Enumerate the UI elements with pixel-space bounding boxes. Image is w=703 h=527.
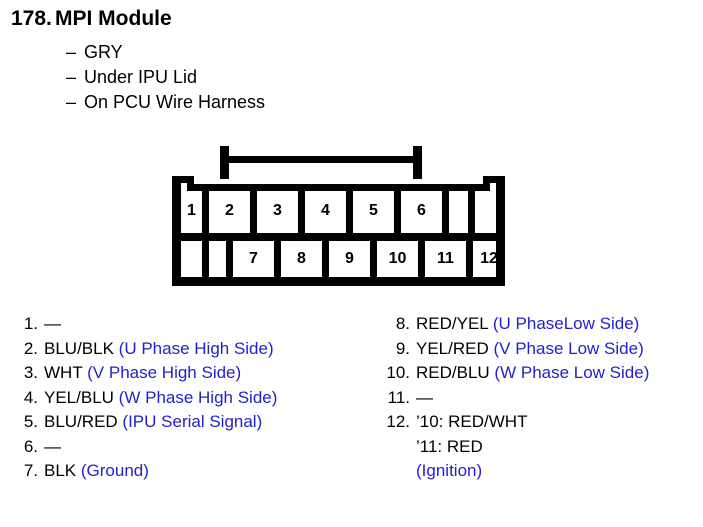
- pin-number-4: 4: [305, 203, 346, 219]
- section-title: MPI Module: [55, 7, 172, 31]
- pin-empty-dash: —: [416, 388, 433, 407]
- pin-entry-5: 5.BLU/RED (IPU Serial Signal): [18, 410, 378, 435]
- cell-divider-top: [442, 187, 449, 237]
- pin-index: 9.: [382, 337, 410, 362]
- pin-description: (U PhaseLow Side): [493, 314, 639, 333]
- pin-index: 3.: [18, 361, 38, 386]
- pin-entry-9: 9.YEL/RED (V Phase Low Side): [382, 337, 700, 362]
- pin-entry-12: 12.’10: RED/WHT ’11: RED (Ignition): [382, 410, 700, 484]
- cell-divider-bottom: [226, 236, 233, 284]
- cell-divider-bottom: [274, 236, 281, 284]
- wire-color: YEL/BLU: [44, 388, 114, 407]
- wire-color: RED/YEL: [416, 314, 488, 333]
- pin-description: (W Phase Low Side): [494, 363, 649, 382]
- pin-index: 4.: [18, 386, 38, 411]
- attribute-list: –GRY –Under IPU Lid –On PCU Wire Harness: [66, 40, 265, 115]
- pin-number-12: 12: [473, 251, 505, 267]
- list-item-label: On PCU Wire Harness: [84, 92, 265, 112]
- cell-divider-bottom: [202, 236, 209, 284]
- pin-description: (V Phase Low Side): [493, 339, 643, 358]
- wire-color: YEL/RED: [416, 339, 489, 358]
- shell-left-wall: [172, 176, 181, 286]
- wire-color: RED/BLU: [416, 363, 490, 382]
- pin-number-10: 10: [377, 251, 418, 267]
- latch-bar: [226, 156, 416, 163]
- dash-icon: –: [66, 90, 84, 115]
- pin-index: 1.: [18, 312, 38, 337]
- cell-divider-bottom: [418, 236, 425, 284]
- wire-color-my2010: ’10: RED/WHT: [416, 412, 527, 431]
- list-item-label: GRY: [84, 42, 123, 62]
- cell-divider-top: [298, 187, 305, 237]
- pin-entry-10: 10.RED/BLU (W Phase Low Side): [382, 361, 700, 386]
- pin-index: 5.: [18, 410, 38, 435]
- row-divider: [172, 233, 505, 241]
- pin-number-8: 8: [281, 251, 322, 267]
- cell-divider-bottom: [370, 236, 377, 284]
- cell-divider-top: [250, 187, 257, 237]
- pin-entry-3: 3.WHT (V Phase High Side): [18, 361, 378, 386]
- dash-icon: –: [66, 40, 84, 65]
- pin-entry-8: 8.RED/YEL (U PhaseLow Side): [382, 312, 700, 337]
- shell-right-wall: [496, 176, 505, 286]
- pin-index: 11.: [382, 386, 410, 411]
- cell-divider-bottom: [466, 236, 473, 284]
- pin-index: 8.: [382, 312, 410, 337]
- wire-color: WHT: [44, 363, 82, 382]
- pin-description: (W Phase High Side): [119, 388, 278, 407]
- pin-index: 6.: [18, 435, 38, 460]
- pin-number-9: 9: [329, 251, 370, 267]
- list-item: –On PCU Wire Harness: [66, 90, 265, 115]
- pin-number-3: 3: [257, 203, 298, 219]
- wire-color: BLU/BLK: [44, 339, 114, 358]
- pin-list-left-column: 1.— 2.BLU/BLK (U Phase High Side) 3.WHT …: [18, 312, 378, 484]
- pin-entry-7: 7.BLK (Ground): [18, 459, 378, 484]
- pin-entry-11: 11.—: [382, 386, 700, 411]
- wire-color: BLK: [44, 461, 76, 480]
- pin-index: 12.: [382, 410, 410, 435]
- shell-bottom-wall: [172, 277, 505, 286]
- wire-color-my2011: ’11: RED: [382, 435, 700, 460]
- wire-color: BLU/RED: [44, 412, 118, 431]
- dash-icon: –: [66, 65, 84, 90]
- page-title: 178.MPI Module: [11, 7, 172, 31]
- cell-divider-bottom: [322, 236, 329, 284]
- pin-description: (V Phase High Side): [87, 363, 241, 382]
- pin-entry-4: 4.YEL/BLU (W Phase High Side): [18, 386, 378, 411]
- pin-number-7: 7: [233, 251, 274, 267]
- pin-number-6: 6: [401, 203, 442, 219]
- pin-description: (Ground): [81, 461, 149, 480]
- pin-number-5: 5: [353, 203, 394, 219]
- pin-number-1: 1: [181, 203, 202, 219]
- section-number: 178.: [11, 7, 55, 31]
- pin-number-2: 2: [209, 203, 250, 219]
- pin-description: (IPU Serial Signal): [122, 412, 262, 431]
- connector-diagram: 1 2 3 4 5 6 7 8 9 10 11 12: [168, 146, 510, 291]
- cell-block-top-rail: [202, 184, 474, 191]
- list-item: –GRY: [66, 40, 265, 65]
- cell-divider-top: [202, 187, 209, 237]
- pin-empty-dash: —: [44, 437, 61, 456]
- pin-description: (U Phase High Side): [119, 339, 274, 358]
- pin-index: 10.: [382, 361, 410, 386]
- pin-description: (Ignition): [382, 459, 700, 484]
- pin-entry-1: 1.—: [18, 312, 378, 337]
- pin-list-right-column: 8.RED/YEL (U PhaseLow Side) 9.YEL/RED (V…: [382, 312, 700, 484]
- pin-index: 2.: [18, 337, 38, 362]
- list-item: –Under IPU Lid: [66, 65, 265, 90]
- cell-divider-top: [346, 187, 353, 237]
- cell-divider-top: [394, 187, 401, 237]
- pin-index: 7.: [18, 459, 38, 484]
- cell-divider-top: [468, 187, 475, 237]
- pin-number-11: 11: [425, 251, 466, 267]
- pin-empty-dash: —: [44, 314, 61, 333]
- pin-entry-6: 6.—: [18, 435, 378, 460]
- pin-entry-2: 2.BLU/BLK (U Phase High Side): [18, 337, 378, 362]
- list-item-label: Under IPU Lid: [84, 67, 197, 87]
